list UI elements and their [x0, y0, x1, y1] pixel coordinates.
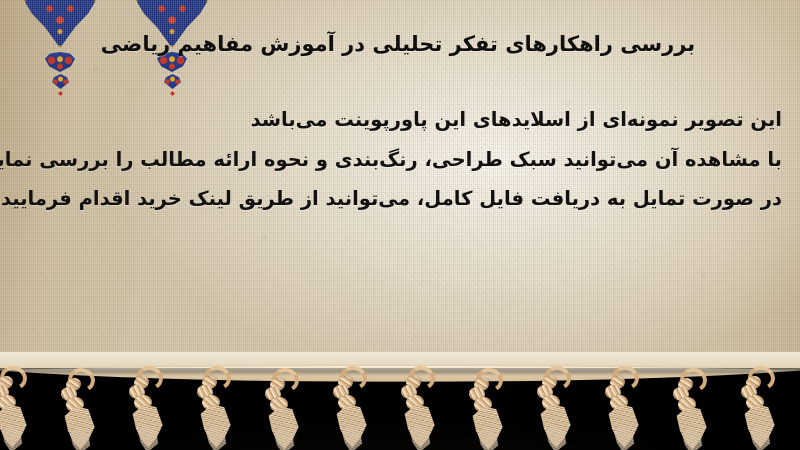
- carpet-tassel: [604, 374, 650, 448]
- carpet-tassel: [196, 374, 242, 448]
- slide-title: بررسی راهکارهای تفکر تحلیلی در آموزش مفا…: [18, 30, 778, 58]
- presentation-slide: بررسی راهکارهای تفکر تحلیلی در آموزش مفا…: [0, 0, 800, 450]
- body-line-3: در صورت تمایل به دریافت فایل کامل، می‌تو…: [16, 189, 782, 209]
- carpet-tassel: [536, 374, 582, 448]
- carpet-tassel: [468, 376, 514, 450]
- carpet-tassel: [672, 376, 718, 450]
- carpet-tassel: [332, 374, 378, 448]
- carpet-tassel: [60, 376, 106, 450]
- carpet-tassel: [740, 374, 786, 448]
- carpet-tassel: [128, 374, 174, 448]
- body-line-2: با مشاهده آن می‌توانید سبک طراحی، رنگ‌بن…: [16, 150, 782, 170]
- carpet-tassel: [0, 374, 38, 448]
- carpet-tassel: [400, 374, 446, 448]
- carpet-tassel: [264, 376, 310, 450]
- slide-body: این تصویر نمونه‌ای از اسلایدهای این پاور…: [16, 110, 782, 209]
- body-line-1: این تصویر نمونه‌ای از اسلایدهای این پاور…: [16, 110, 782, 130]
